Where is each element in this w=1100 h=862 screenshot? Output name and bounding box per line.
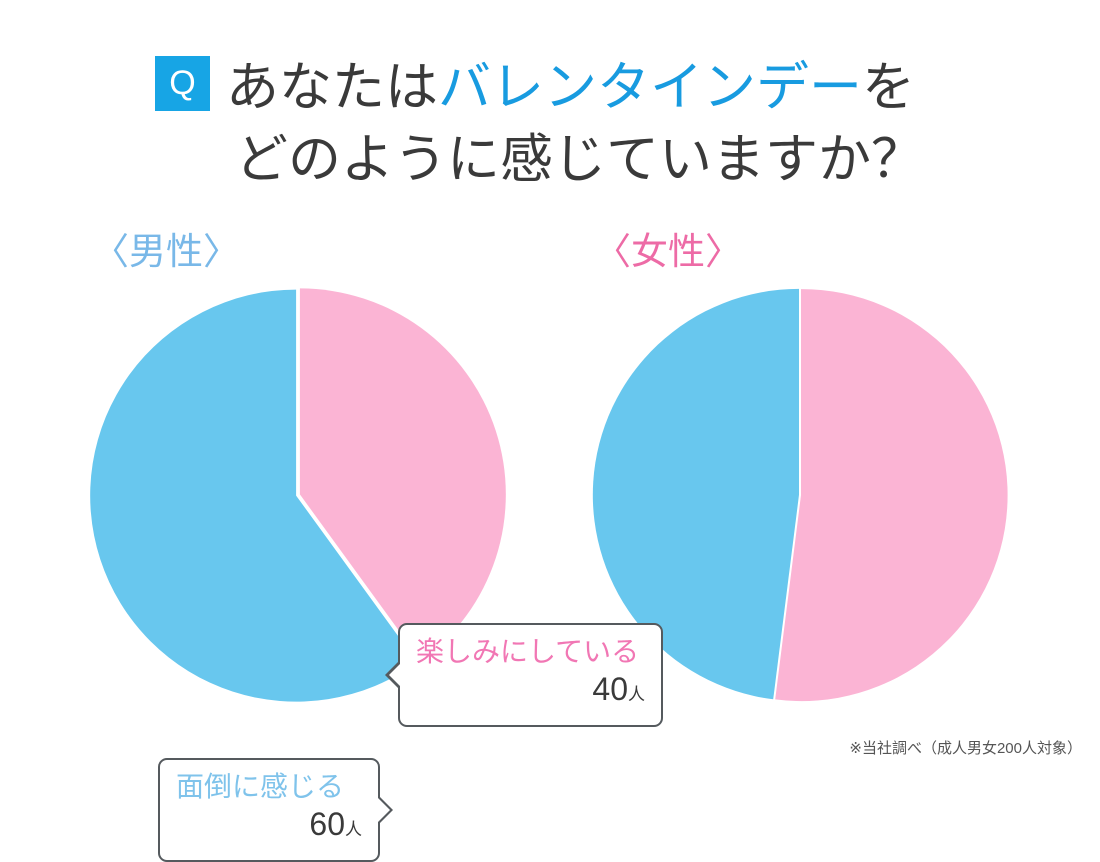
callout-label: 楽しみにしている xyxy=(416,634,645,670)
callout-value: 60人 xyxy=(176,805,362,849)
callout-pointer-icon xyxy=(385,660,400,690)
callout-pointer-icon xyxy=(378,795,393,825)
page-title: Qあなたはバレンタインデーを どのように感じていますか？ xyxy=(155,52,1055,196)
callout-unit: 人 xyxy=(628,685,645,704)
callout-value: 40人 xyxy=(416,670,645,714)
question-badge: Q xyxy=(155,56,210,111)
callout-unit: 人 xyxy=(345,820,362,839)
callout-number: 40 xyxy=(592,671,628,707)
callout-label: 面倒に感じる xyxy=(176,769,362,805)
title-text-pre: あなたは xyxy=(226,58,438,117)
callout-male-bother[interactable]: 面倒に感じる 60人 xyxy=(158,758,380,862)
pie-slice-enjoy-female xyxy=(775,289,1007,701)
title-text-accent: バレンタインデー xyxy=(438,58,862,117)
title-line-2: どのように感じていますか？ xyxy=(235,124,1055,196)
callout-number: 60 xyxy=(309,806,345,842)
source-footnote: ※当社調べ（成人男女200人対象） xyxy=(849,737,1082,758)
title-text-post: を xyxy=(862,58,915,117)
panel-title-female: 〈女性〉 xyxy=(594,230,742,274)
title-line-1: Qあなたはバレンタインデーを xyxy=(155,52,1055,124)
panel-title-male: 〈男性〉 xyxy=(92,230,240,274)
callout-male-enjoy[interactable]: 楽しみにしている 40人 xyxy=(398,623,663,727)
